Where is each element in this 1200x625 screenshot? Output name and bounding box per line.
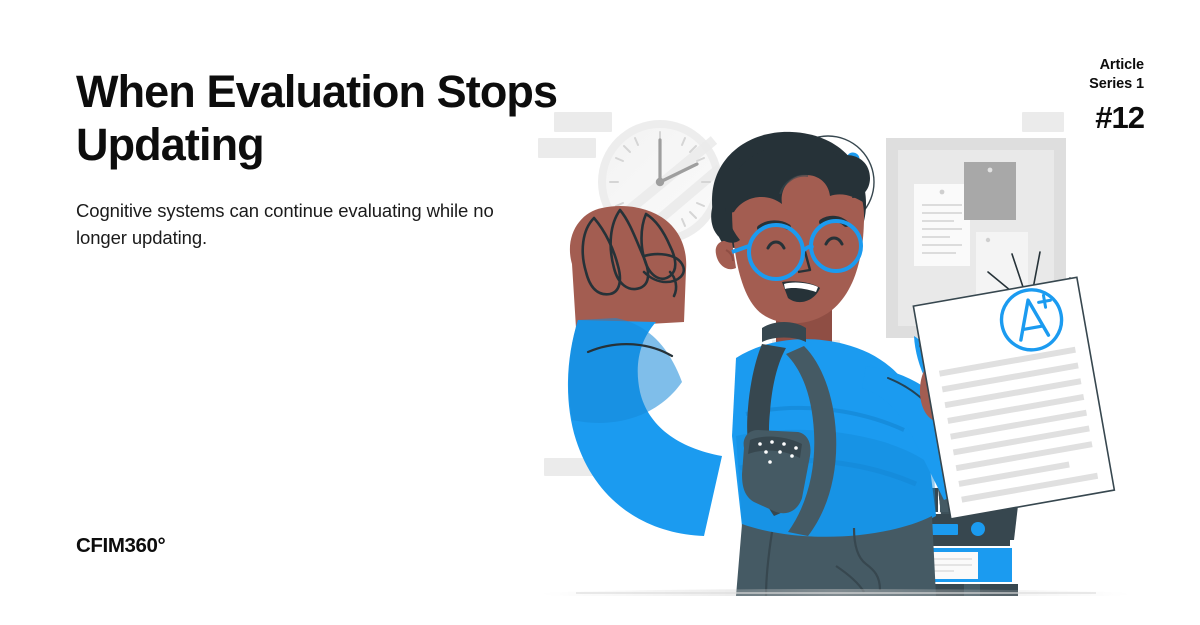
pinned-paper-left <box>914 184 970 266</box>
raised-fist <box>570 206 686 328</box>
article-card: When Evaluation Stops Updating Cognitive… <box>0 0 1200 625</box>
brand-logo: CFIM360° <box>76 534 165 558</box>
article-series-label: Article Series 1 <box>1089 56 1144 93</box>
ground-line <box>576 592 1096 594</box>
page-subtitle: Cognitive systems can continue evaluatin… <box>76 198 546 252</box>
hero-illustration <box>536 96 1156 596</box>
pinned-card-gray <box>964 162 1016 220</box>
